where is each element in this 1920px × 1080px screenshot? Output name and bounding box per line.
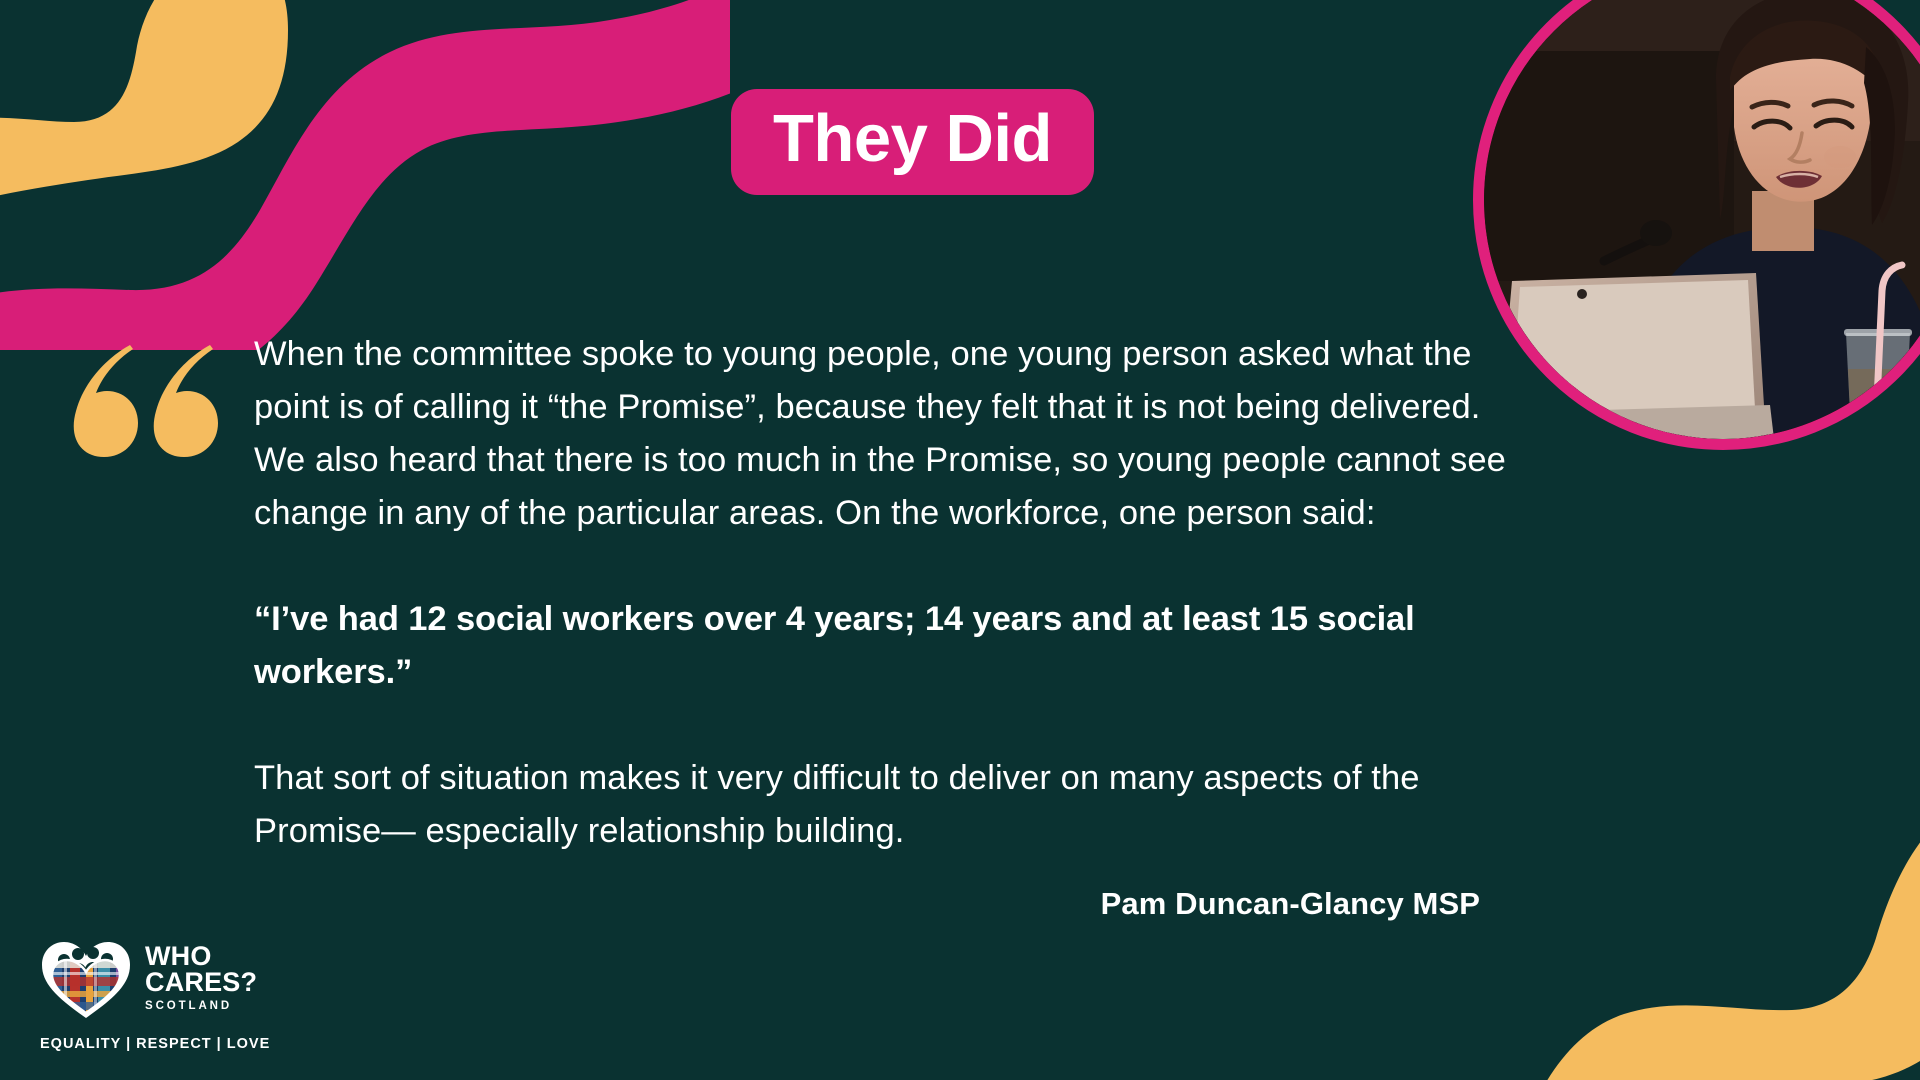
paragraph-spacer-2 bbox=[254, 699, 1524, 752]
wave-bottom-right-group bbox=[1480, 820, 1920, 1080]
page-title: They Did bbox=[773, 105, 1052, 173]
quote-attribution: Pam Duncan-Glancy MSP bbox=[254, 886, 1524, 922]
quote-paragraph-3: That sort of situation makes it very dif… bbox=[254, 752, 1524, 858]
quote-glyph bbox=[68, 339, 218, 457]
logo-tagline: EQUALITY | RESPECT | LOVE bbox=[40, 1036, 300, 1052]
video-inset-circle[interactable] bbox=[1473, 0, 1920, 450]
amber-wave-bottom-shape bbox=[1524, 820, 1920, 1080]
heart-people-icon bbox=[40, 939, 132, 1019]
logo-line-1: WHO bbox=[145, 943, 257, 969]
logo-line-2: CARES? bbox=[145, 969, 257, 995]
quote-body: When the committee spoke to young people… bbox=[254, 328, 1524, 922]
logo-row: WHO CARES? SCOTLAND bbox=[40, 939, 300, 1019]
video-frame bbox=[1484, 0, 1920, 439]
amber-wave-shape bbox=[0, 0, 288, 216]
quotation-mark-icon bbox=[68, 300, 218, 430]
pink-wave-shape bbox=[0, 0, 730, 350]
brand-logo: WHO CARES? SCOTLAND EQUALITY | RESPECT |… bbox=[40, 939, 300, 1052]
speaker-photo bbox=[1484, 0, 1920, 439]
slide-root: They Did When the committee spoke to you… bbox=[0, 0, 1920, 1080]
logo-wordmark: WHO CARES? SCOTLAND bbox=[145, 943, 257, 1015]
title-badge: They Did bbox=[731, 89, 1094, 195]
paragraph-spacer-1 bbox=[254, 540, 1524, 593]
quote-paragraph-2-bold: “I’ve had 12 social workers over 4 years… bbox=[254, 593, 1524, 699]
wave-top-left-group bbox=[0, 0, 730, 350]
quote-paragraph-1: When the committee spoke to young people… bbox=[254, 328, 1524, 540]
logo-line-3: SCOTLAND bbox=[145, 997, 257, 1015]
